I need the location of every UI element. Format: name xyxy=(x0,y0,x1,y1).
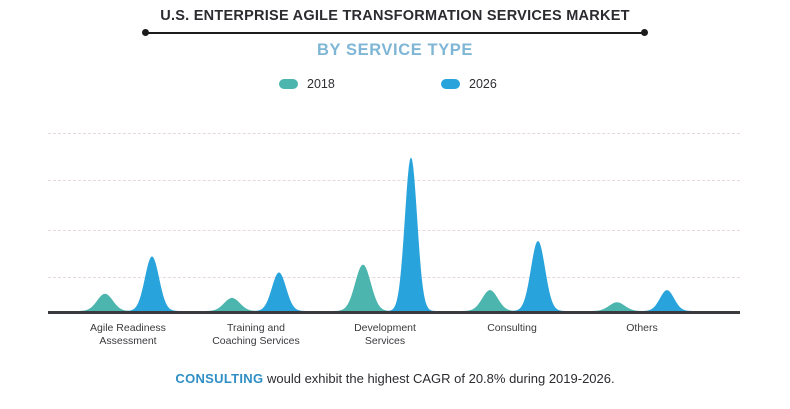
x-axis-label-1-line1: Training and xyxy=(181,322,331,335)
chart-x-axis-labels: Agile Readiness Assessment Training and … xyxy=(0,322,790,356)
x-axis-label-3-line1: Consulting xyxy=(437,322,587,335)
annotation-rest: would exhibit the highest CAGR of 20.8% … xyxy=(263,371,614,386)
legend-label-2026: 2026 xyxy=(469,78,497,91)
x-axis-label-4: Others xyxy=(567,322,717,335)
chart-baseline xyxy=(48,311,740,314)
legend-pill-icon-2018 xyxy=(279,79,298,89)
x-axis-label-1: Training and Coaching Services xyxy=(181,322,331,347)
chart-annotation: CONSULTING would exhibit the highest CAG… xyxy=(0,371,790,386)
legend-item-2026[interactable]: 2026 xyxy=(441,78,497,91)
chart-infographic: U.S. ENTERPRISE AGILE TRANSFORMATION SER… xyxy=(0,0,790,409)
chart-curves xyxy=(0,118,790,318)
area-peak-2026-1 xyxy=(249,272,309,311)
area-peak-2018-2 xyxy=(330,265,396,311)
area-peak-2018-1 xyxy=(199,298,265,311)
chart-legend: 2018 2026 xyxy=(0,78,790,96)
area-peak-2018-4 xyxy=(584,302,650,311)
title-divider xyxy=(0,27,790,39)
x-axis-label-2-line2: Services xyxy=(310,335,460,348)
area-peak-2026-4 xyxy=(637,290,697,311)
x-axis-label-4-line1: Others xyxy=(567,322,717,335)
divider-dot-right-icon xyxy=(641,29,648,36)
area-peak-2026-3 xyxy=(508,241,568,311)
divider-line xyxy=(145,32,645,34)
page-subtitle: BY SERVICE TYPE xyxy=(0,41,790,60)
x-axis-label-1-line2: Coaching Services xyxy=(181,335,331,348)
legend-item-2018[interactable]: 2018 xyxy=(279,78,335,91)
area-peak-2026-0 xyxy=(122,256,182,311)
x-axis-label-3: Consulting xyxy=(437,322,587,335)
legend-label-2018: 2018 xyxy=(307,78,335,91)
area-peak-2026-2 xyxy=(385,157,437,311)
annotation-highlight: CONSULTING xyxy=(175,371,263,386)
area-peak-2018-3 xyxy=(457,290,523,311)
area-peak-2018-0 xyxy=(72,294,138,311)
legend-pill-icon-2026 xyxy=(441,79,460,89)
page-title: U.S. ENTERPRISE AGILE TRANSFORMATION SER… xyxy=(0,8,790,24)
chart-plot-area xyxy=(0,118,790,318)
